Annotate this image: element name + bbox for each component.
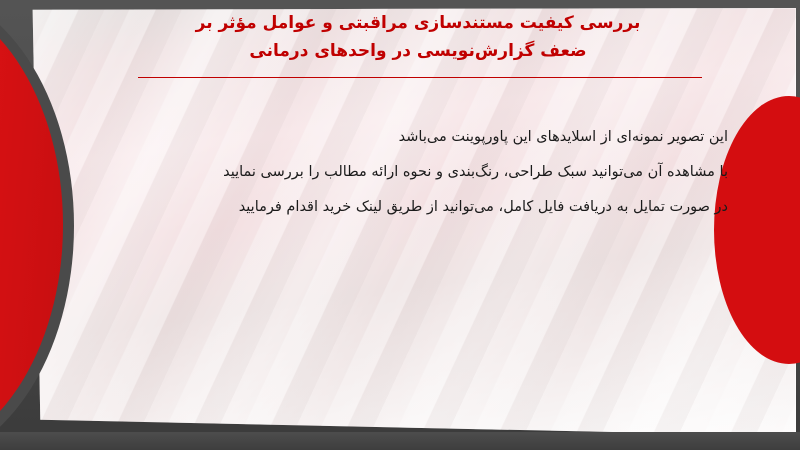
presentation-slide: بررسی کیفیت مستندسازی مراقبتی و عوامل مؤ… bbox=[0, 0, 800, 450]
title-line-2: ضعف گزارش‌نویسی در واحدهای درمانی bbox=[118, 38, 718, 66]
title-divider-rule bbox=[138, 77, 702, 78]
slide-body-text: این تصویر نمونه‌ای از اسلایدهای این پاور… bbox=[88, 120, 728, 225]
slide-title: بررسی کیفیت مستندسازی مراقبتی و عوامل مؤ… bbox=[118, 10, 718, 65]
bottom-dark-band bbox=[0, 432, 800, 450]
body-line-2: با مشاهده آن می‌توانید سبک طراحی، رنگ‌بن… bbox=[88, 155, 728, 190]
title-line-1: بررسی کیفیت مستندسازی مراقبتی و عوامل مؤ… bbox=[118, 10, 718, 38]
body-line-1: این تصویر نمونه‌ای از اسلایدهای این پاور… bbox=[88, 120, 728, 155]
body-line-3: در صورت تمایل به دریافت فایل کامل، می‌تو… bbox=[88, 190, 728, 225]
